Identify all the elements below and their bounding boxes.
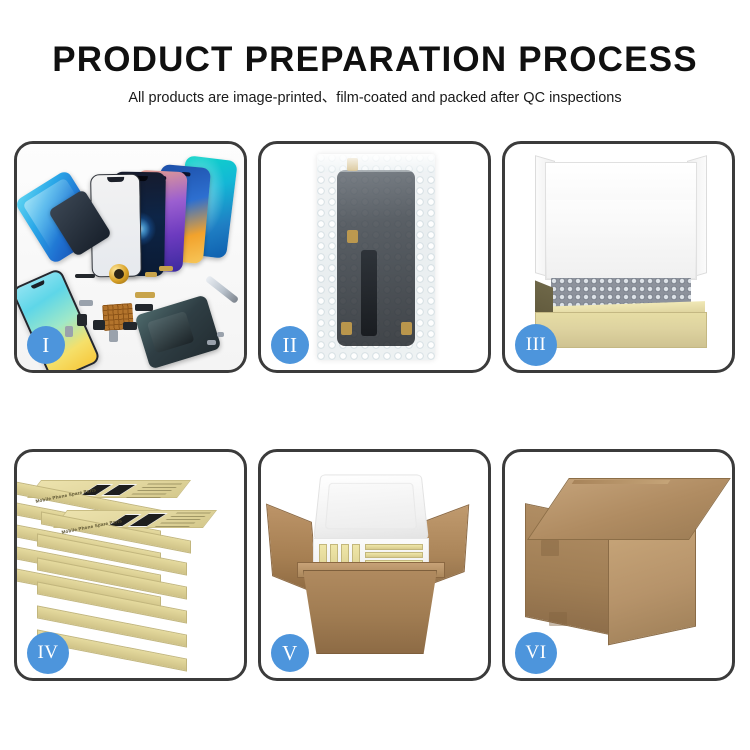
carton-tape-seam [572,480,671,484]
part-camera [77,314,87,326]
step-badge-3: III [515,324,557,366]
part-screw [207,340,216,345]
gold-tape-tab-3 [341,322,352,335]
page-title: PRODUCT PREPARATION PROCESS [0,40,750,80]
step-badge-4: IV [27,632,69,674]
part-bracket [79,300,93,306]
step-badge-5: V [271,634,309,672]
retail-box-front-6 [49,628,199,650]
gold-tape-tab-4 [401,322,412,335]
box-front-wall [535,312,707,348]
part-sim-tray [109,330,118,342]
bubble-wrap-bag [317,154,435,360]
process-step-3: III [502,141,735,373]
process-step-5: V [258,449,491,681]
step-badge-1: I [27,326,65,364]
carton-body [303,570,437,654]
carton-handle-cut-bottom [549,612,567,626]
process-step-2: II [258,141,491,373]
screen-flex-cable [361,250,377,336]
box-foam-liner [547,200,695,278]
bag-seal-fold [317,154,435,172]
page-subtitle: All products are image-printed、film-coat… [0,89,750,107]
foam-lid [313,475,429,540]
carton-face-top [527,478,731,540]
part-flex-cable [135,292,155,298]
part-connector [123,322,137,330]
process-step-4: Mobile Phone Spare Parts Mo [14,449,247,681]
retail-box-front-2 [49,532,199,554]
part-screw-2 [217,332,224,337]
header: PRODUCT PREPARATION PROCESS All products… [0,40,750,107]
step-badge-2: II [271,326,309,364]
gold-tape-tab-2 [347,230,358,243]
part-button [65,326,73,337]
part-gold-clip [145,272,157,277]
speaker-module [109,264,129,284]
part-strip [75,274,95,278]
retail-box-front-4 [49,580,199,602]
carton-handle-cut-top [541,540,559,556]
process-step-grid: I II [14,141,736,681]
step-badge-6: VI [515,632,557,674]
part-flex-cable-2 [135,304,153,311]
retail-box-front-3 [49,556,199,578]
process-step-6: VI [502,449,735,681]
process-step-1: I [14,141,247,373]
product-preparation-infographic: PRODUCT PREPARATION PROCESS All products… [0,0,750,750]
part-buzzer [93,320,105,330]
part-gold-clip-2 [159,266,173,271]
retail-box-front-5 [49,604,199,626]
